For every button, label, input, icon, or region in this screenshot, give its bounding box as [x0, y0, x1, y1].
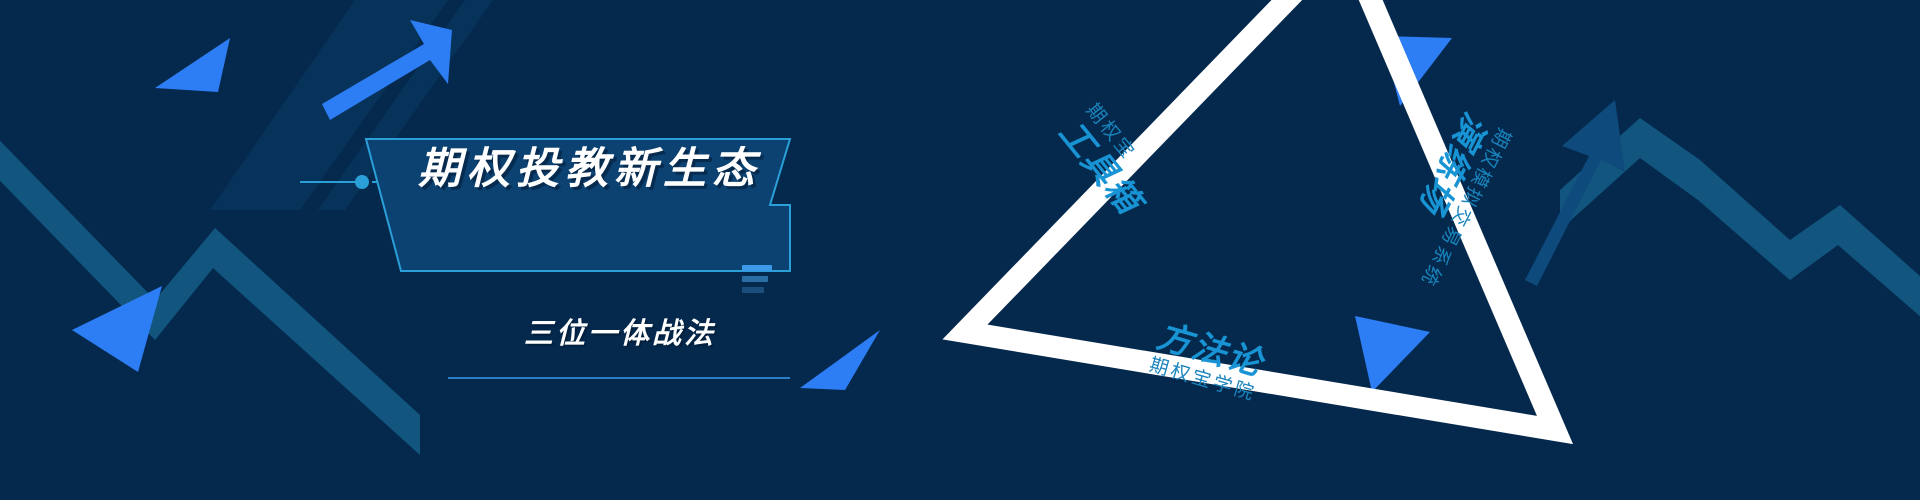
- background-decoration: [0, 0, 1920, 500]
- promo-banner: 期权投教新生态 三位一体战法 期权宝 工具箱 期权模拟交易系统 演练场 方法论 …: [0, 0, 1920, 500]
